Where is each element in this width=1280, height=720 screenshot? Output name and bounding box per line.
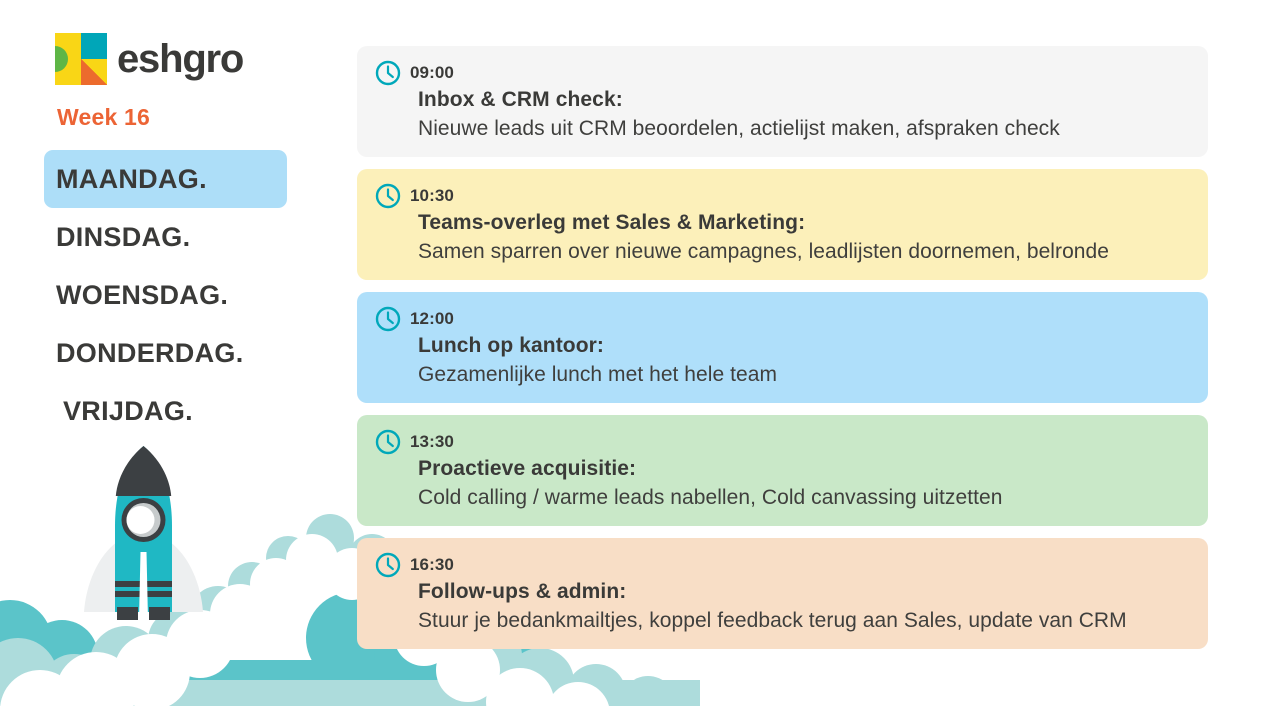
day-label-dinsdag: DINSDAG. [56,222,190,253]
rocket-fin-left [84,542,117,612]
card-description: Stuur je bedankmailtjes, koppel feedback… [375,609,1190,633]
logo-left-panel [55,33,81,85]
card-time: 12:00 [410,309,454,329]
sidebar-item-woensdag[interactable]: WOENSDAG. [44,266,287,324]
weekly-schedule-page: eshgro Week 16 MAANDAG. DINSDAG. WOENSDA… [0,0,1280,720]
schedule-card[interactable]: 16:30 Follow-ups & admin: Stuur je bedan… [357,538,1208,649]
clock-icon [375,183,401,209]
week-label: Week 16 [57,104,150,131]
card-title: Lunch op kantoor: [375,334,1190,358]
day-list: MAANDAG. DINSDAG. WOENSDAG. DONDERDAG. V… [0,150,340,440]
sidebar-item-maandag[interactable]: MAANDAG. [44,150,287,208]
card-header: 12:00 [375,306,1190,332]
card-header: 10:30 [375,183,1190,209]
logo-teal-quadrant [81,33,107,59]
clock-icon [375,552,401,578]
card-header: 09:00 [375,60,1190,86]
card-title: Inbox & CRM check: [375,88,1190,112]
card-time: 13:30 [410,432,454,452]
sidebar-item-dinsdag[interactable]: DINSDAG. [44,208,287,266]
rocket-leg-right [149,607,170,620]
sidebar: eshgro Week 16 MAANDAG. DINSDAG. WOENSDA… [0,0,340,720]
brand-wordmark: eshgro [117,39,243,79]
schedule-card[interactable]: 12:00 Lunch op kantoor: Gezamenlijke lun… [357,292,1208,403]
sidebar-item-donderdag[interactable]: DONDERDAG. [44,324,287,382]
day-label-maandag: MAANDAG. [56,164,207,195]
rocket-icon [76,444,211,634]
clock-icon [375,306,401,332]
rocket-center-divider [139,552,148,620]
eshgro-square-logo-icon [55,33,107,85]
rocket-window-highlight [127,506,155,534]
rocket-fin-right [170,542,203,612]
logo-green-semicircle [55,46,68,72]
day-label-woensdag: WOENSDAG. [56,280,228,311]
card-header: 13:30 [375,429,1190,455]
card-description: Samen sparren over nieuwe campagnes, lea… [375,240,1190,264]
day-label-vrijdag: VRIJDAG. [56,396,193,427]
schedule-card[interactable]: 09:00 Inbox & CRM check: Nieuwe leads ui… [357,46,1208,157]
brand-logo: eshgro [55,33,243,85]
card-description: Gezamenlijke lunch met het hele team [375,363,1190,387]
clock-icon [375,60,401,86]
rocket-nose-cone [116,446,171,496]
rocket-leg-left [117,607,138,620]
card-time: 09:00 [410,63,454,83]
card-title: Teams-overleg met Sales & Marketing: [375,211,1190,235]
clock-icon [375,429,401,455]
card-time: 10:30 [410,186,454,206]
card-description: Nieuwe leads uit CRM beoordelen, actieli… [375,117,1190,141]
sidebar-item-vrijdag[interactable]: VRIJDAG. [44,382,287,440]
card-description: Cold calling / warme leads nabellen, Col… [375,486,1190,510]
schedule-card[interactable]: 10:30 Teams-overleg met Sales & Marketin… [357,169,1208,280]
card-header: 16:30 [375,552,1190,578]
schedule-list: 09:00 Inbox & CRM check: Nieuwe leads ui… [357,46,1208,661]
card-time: 16:30 [410,555,454,575]
card-title: Follow-ups & admin: [375,580,1190,604]
logo-yellow-triangle [81,59,107,85]
day-label-donderdag: DONDERDAG. [56,338,244,369]
card-title: Proactieve acquisitie: [375,457,1190,481]
schedule-card[interactable]: 13:30 Proactieve acquisitie: Cold callin… [357,415,1208,526]
